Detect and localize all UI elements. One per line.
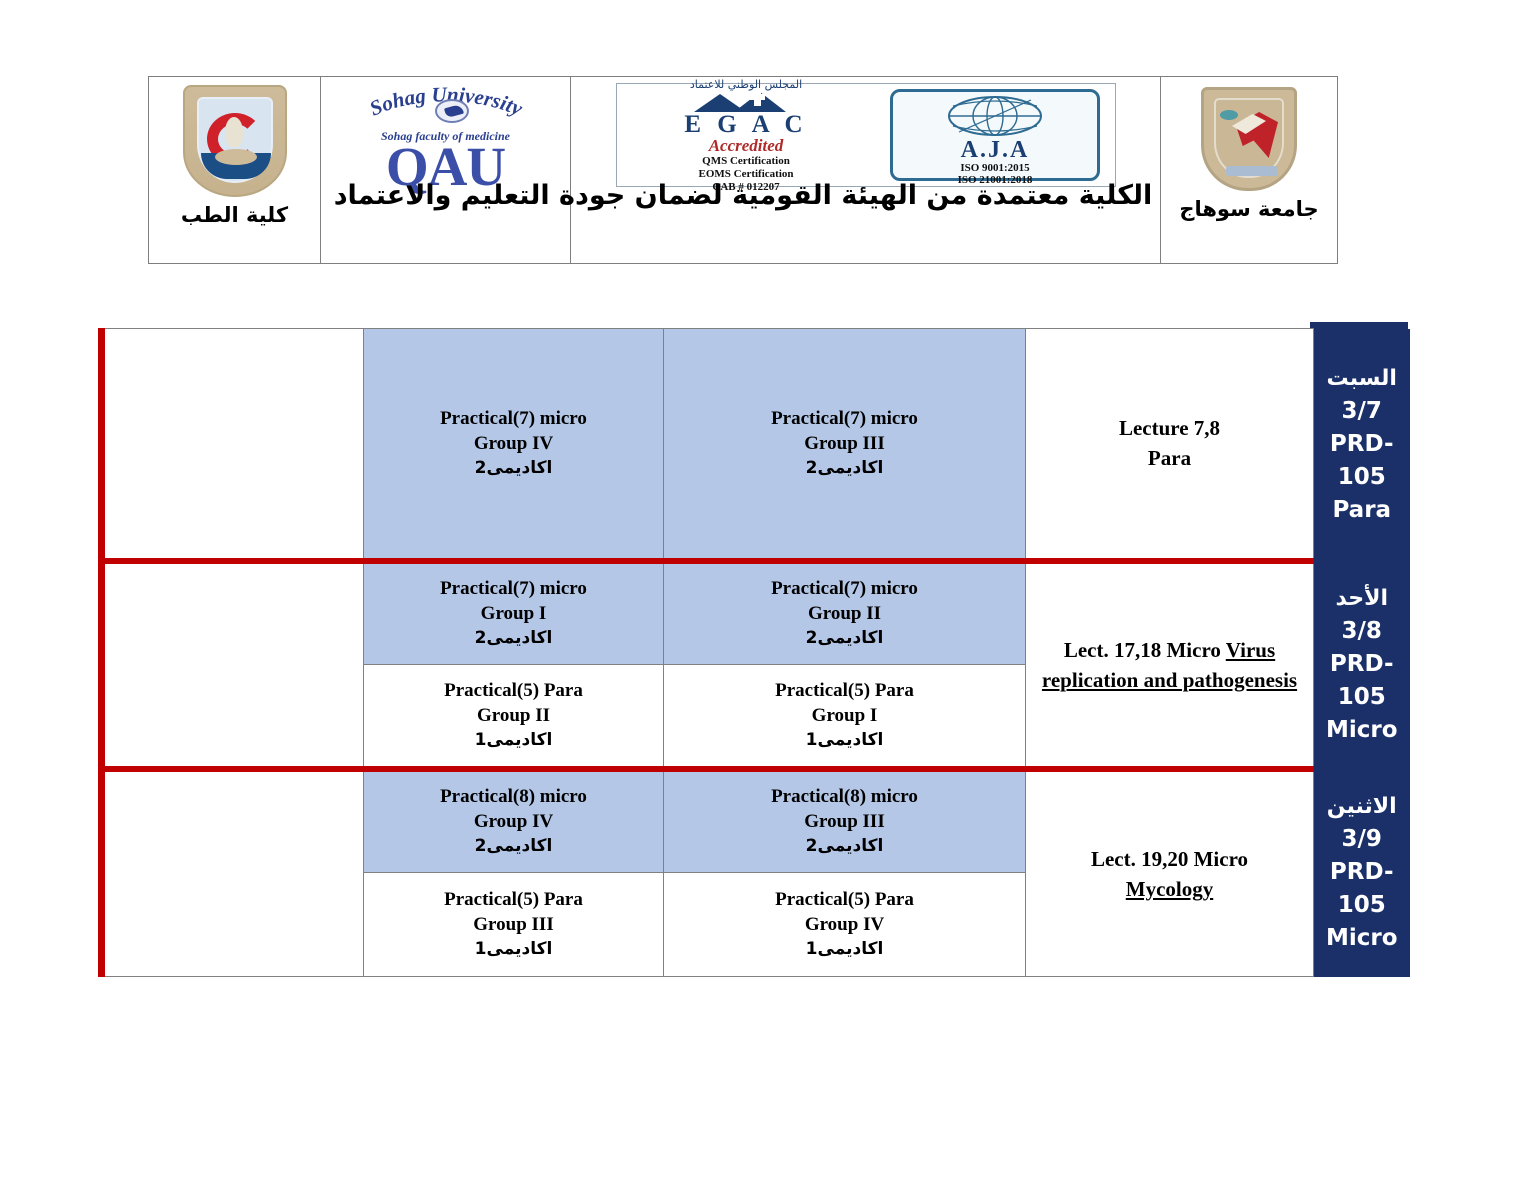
row-2-lecture-cell: Lect. 17,18 Micro Virus replication and … bbox=[1026, 561, 1314, 769]
row-3-practical-second-column: Practical(8) micro Group III اكاديمى2 bbox=[664, 769, 1026, 873]
slot-title: Practical(5) Para bbox=[372, 678, 655, 703]
accreditation-statement: الكلية معتمدة من الهيئة القومية لضمان جو… bbox=[324, 180, 1162, 212]
slot-title: Practical(7) micro bbox=[672, 406, 1017, 431]
row-3-lecture-cell: Lect. 19,20 Micro Mycology bbox=[1026, 769, 1314, 977]
slot-title: Practical(7) micro bbox=[372, 576, 655, 601]
row-1-practical-first-column: Practical(7) micro Group IV اكاديمى2 bbox=[364, 329, 664, 561]
slot-title: Practical(8) micro bbox=[672, 784, 1017, 809]
egac-letters: E G A C bbox=[631, 112, 861, 137]
day-code-line-2: 105 bbox=[1318, 889, 1406, 922]
table-row: Practical(8) micro Group IV اكاديمى2 Pra… bbox=[102, 769, 1410, 873]
egac-accredited-text: Accredited bbox=[631, 137, 861, 154]
row-2-para-first-column: Practical(5) Para Group II اكاديمى1 bbox=[364, 665, 664, 769]
row-1-day-cell: السبت 3/7 PRD- 105 Para bbox=[1314, 329, 1410, 561]
day-code-line-1: PRD- bbox=[1318, 428, 1406, 461]
weekly-schedule-table: Practical(7) micro Group IV اكاديمى2 Pra… bbox=[98, 328, 1410, 977]
slot-room: اكاديمى2 bbox=[672, 456, 1017, 481]
slot-room: اكاديمى2 bbox=[372, 456, 655, 481]
page-root: كلية الطب Sohag University Sohag faculty… bbox=[0, 0, 1536, 1187]
day-code-line-1: PRD- bbox=[1318, 856, 1406, 889]
university-logo-cell: جامعة سوهاج bbox=[1161, 77, 1337, 263]
lecture-line-1: Lecture 7,8 bbox=[1040, 413, 1299, 443]
row-1-empty-cell bbox=[102, 329, 364, 561]
day-subject: Micro bbox=[1318, 714, 1406, 747]
slot-title: Practical(8) micro bbox=[372, 784, 655, 809]
slot-group: Group II bbox=[372, 703, 655, 728]
aja-globe-icon bbox=[893, 94, 1097, 138]
row-2-empty-cell bbox=[102, 561, 364, 769]
row-2-practical-second-column: Practical(7) micro Group II اكاديمى2 bbox=[664, 561, 1026, 665]
slot-room: اكاديمى1 bbox=[372, 937, 655, 962]
row-3-empty-cell bbox=[102, 769, 364, 977]
slot-title: Practical(5) Para bbox=[372, 887, 655, 912]
egac-line-1: QMS Certification bbox=[631, 155, 861, 167]
slot-group: Group IV bbox=[372, 431, 655, 456]
day-name: الأحد bbox=[1318, 582, 1406, 615]
certification-cell: المجلس الوطني للاعتماد E G A C Accredite… bbox=[571, 77, 1161, 263]
row-3-practical-first-column: Practical(8) micro Group IV اكاديمى2 bbox=[364, 769, 664, 873]
day-code-line-2: 105 bbox=[1318, 681, 1406, 714]
aja-logo: A.J.A ISO 9001:2015 ISO 21001:2018 bbox=[890, 89, 1100, 181]
table-row: Practical(7) micro Group IV اكاديمى2 Pra… bbox=[102, 329, 1410, 561]
slot-group: Group III bbox=[672, 809, 1017, 834]
day-date: 3/8 bbox=[1318, 615, 1406, 648]
slot-room: اكاديمى1 bbox=[672, 937, 1017, 962]
day-name: الاثنين bbox=[1318, 790, 1406, 823]
slot-room: اكاديمى2 bbox=[672, 834, 1017, 859]
qau-logo-cell: Sohag University Sohag faculty of medici… bbox=[321, 77, 571, 263]
row-2-day-cell: الأحد 3/8 PRD- 105 Micro bbox=[1314, 561, 1410, 769]
row-3-day-cell: الاثنين 3/9 PRD- 105 Micro bbox=[1314, 769, 1410, 977]
slot-title: Practical(7) micro bbox=[672, 576, 1017, 601]
slot-title: Practical(7) micro bbox=[372, 406, 655, 431]
certification-box: المجلس الوطني للاعتماد E G A C Accredite… bbox=[616, 83, 1116, 187]
faculty-logo-cell: كلية الطب bbox=[149, 77, 321, 263]
lecture-line-2: Para bbox=[1040, 443, 1299, 473]
day-subject: Para bbox=[1318, 494, 1406, 527]
institution-header-table: كلية الطب Sohag University Sohag faculty… bbox=[148, 76, 1338, 264]
slot-room: اكاديمى1 bbox=[372, 728, 655, 753]
row-1-practical-second-column: Practical(7) micro Group III اكاديمى2 bbox=[664, 329, 1026, 561]
slot-title: Practical(5) Para bbox=[672, 887, 1017, 912]
lecture-line-1: Lect. 19,20 Micro bbox=[1040, 844, 1299, 874]
slot-group: Group III bbox=[672, 431, 1017, 456]
sohag-university-shield-icon bbox=[1201, 87, 1297, 191]
egac-logo: المجلس الوطني للاعتماد E G A C Accredite… bbox=[631, 78, 861, 193]
aja-iso-line-1: ISO 9001:2015 bbox=[893, 162, 1097, 174]
day-date: 3/9 bbox=[1318, 823, 1406, 856]
slot-group: Group IV bbox=[372, 809, 655, 834]
table-row: Practical(7) micro Group I اكاديمى2 Prac… bbox=[102, 561, 1410, 665]
slot-room: اكاديمى2 bbox=[672, 626, 1017, 651]
egac-mountain-icon bbox=[631, 90, 861, 112]
slot-group: Group II bbox=[672, 601, 1017, 626]
egac-line-2: EOMS Certification bbox=[631, 168, 861, 180]
qau-torch-icon bbox=[435, 99, 469, 123]
slot-room: اكاديمى1 bbox=[672, 728, 1017, 753]
slot-group: Group I bbox=[672, 703, 1017, 728]
slot-group: Group IV bbox=[672, 912, 1017, 937]
row-2-practical-first-column: Practical(7) micro Group I اكاديمى2 bbox=[364, 561, 664, 665]
slot-room: اكاديمى2 bbox=[372, 626, 655, 651]
university-logo-caption: جامعة سوهاج bbox=[1179, 197, 1318, 221]
day-subject: Micro bbox=[1318, 922, 1406, 955]
slot-room: اكاديمى2 bbox=[372, 834, 655, 859]
day-date: 3/7 bbox=[1318, 395, 1406, 428]
faculty-of-medicine-shield-icon bbox=[183, 85, 287, 197]
slot-group: Group I bbox=[372, 601, 655, 626]
lecture-line-1: Lect. 17,18 Micro bbox=[1064, 638, 1226, 662]
row-2-para-second-column: Practical(5) Para Group I اكاديمى1 bbox=[664, 665, 1026, 769]
day-code-line-1: PRD- bbox=[1318, 648, 1406, 681]
lecture-line-2: Mycology bbox=[1126, 874, 1213, 904]
day-name: السبت bbox=[1318, 362, 1406, 395]
row-3-para-first-column: Practical(5) Para Group III اكاديمى1 bbox=[364, 873, 664, 977]
row-3-para-second-column: Practical(5) Para Group IV اكاديمى1 bbox=[664, 873, 1026, 977]
aja-letters: A.J.A bbox=[893, 138, 1097, 162]
day-code-line-2: 105 bbox=[1318, 461, 1406, 494]
slot-title: Practical(5) Para bbox=[672, 678, 1017, 703]
slot-group: Group III bbox=[372, 912, 655, 937]
row-1-lecture-cell: Lecture 7,8 Para bbox=[1026, 329, 1314, 561]
faculty-logo-caption: كلية الطب bbox=[181, 203, 288, 227]
